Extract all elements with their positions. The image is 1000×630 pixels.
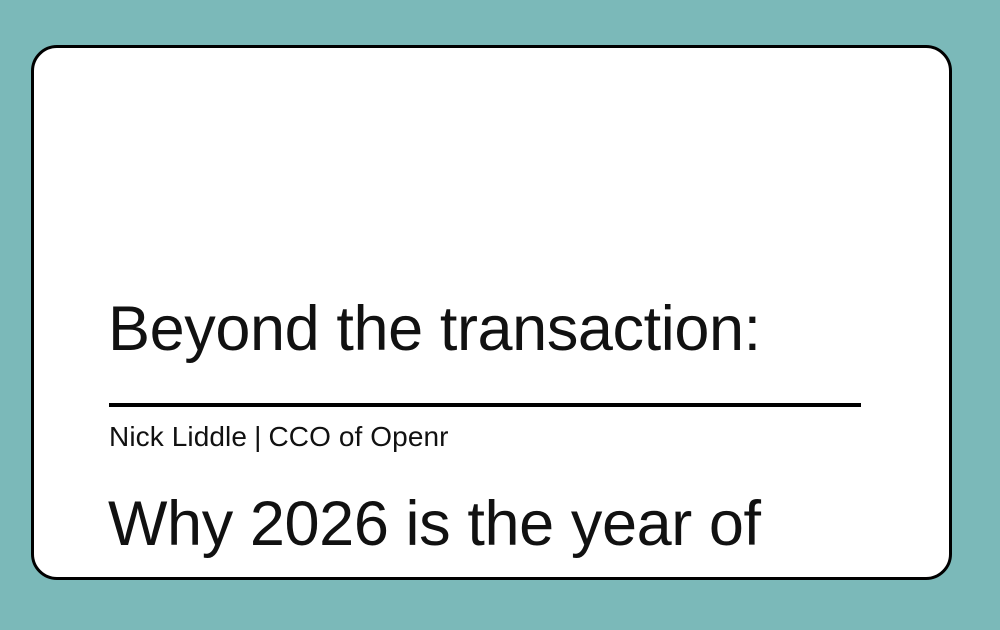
divider-rule — [109, 403, 861, 407]
headline-line-1: Beyond the transaction: — [108, 297, 898, 362]
slide-canvas: Beyond the transaction: Why 2026 is the … — [0, 0, 1000, 630]
quote-card: Beyond the transaction: Why 2026 is the … — [31, 45, 952, 580]
byline: Nick Liddle|CCO of Openr — [109, 417, 449, 457]
byline-author-name: Nick Liddle — [109, 421, 247, 452]
byline-author-role: CCO of Openr — [268, 421, 448, 452]
byline-separator: | — [247, 417, 268, 457]
headline-line-2: Why 2026 is the year of — [108, 492, 898, 557]
page-title: Beyond the transaction: Why 2026 is the … — [108, 167, 898, 630]
